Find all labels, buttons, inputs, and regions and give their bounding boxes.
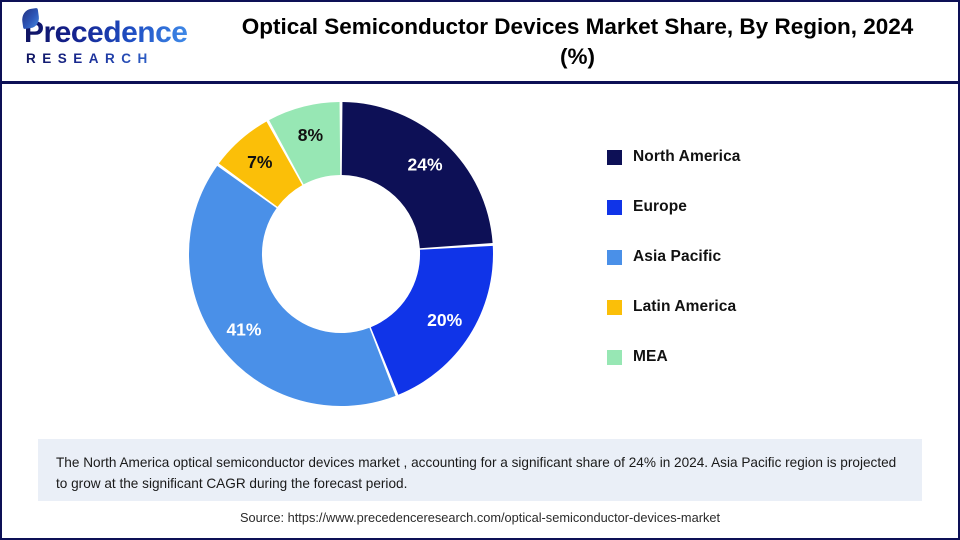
donut-slice-group: [189, 102, 493, 406]
legend-label: North America: [633, 148, 741, 166]
legend-item-north-america[interactable]: North America: [607, 132, 907, 182]
legend-item-europe[interactable]: Europe: [607, 182, 907, 232]
chart-legend: North America Europe Asia Pacific Latin …: [607, 132, 907, 382]
legend-item-mea[interactable]: MEA: [607, 332, 907, 382]
donut-slice[interactable]: [189, 166, 396, 406]
legend-label: Asia Pacific: [633, 248, 721, 266]
donut-slice-label: 8%: [298, 125, 324, 145]
donut-slice-label: 41%: [226, 319, 261, 339]
logo-wordmark: Precedence: [16, 18, 217, 48]
chart-area: 24%20%41%7%8% North America Europe Asia …: [2, 84, 958, 429]
donut-slice-label: 7%: [247, 152, 273, 172]
legend-item-asia-pacific[interactable]: Asia Pacific: [607, 232, 907, 282]
donut-chart-svg: 24%20%41%7%8%: [180, 98, 502, 410]
brand-logo: Precedence RESEARCH: [2, 18, 217, 66]
legend-label: MEA: [633, 348, 668, 366]
source-line: Source: https://www.precedenceresearch.c…: [2, 510, 958, 525]
legend-label: Latin America: [633, 298, 736, 316]
logo-subtitle: RESEARCH: [16, 52, 217, 66]
legend-swatch-icon: [607, 250, 622, 265]
legend-swatch-icon: [607, 150, 622, 165]
logo-wordmark-text: Precedence: [24, 16, 187, 49]
legend-swatch-icon: [607, 350, 622, 365]
legend-label: Europe: [633, 198, 687, 216]
infographic-frame: Precedence RESEARCH Optical Semiconducto…: [0, 0, 960, 540]
donut-chart: 24%20%41%7%8%: [180, 98, 502, 410]
legend-swatch-icon: [607, 200, 622, 215]
header: Precedence RESEARCH Optical Semiconducto…: [2, 2, 958, 84]
donut-slice-label: 20%: [427, 310, 462, 330]
legend-item-latin-america[interactable]: Latin America: [607, 282, 907, 332]
legend-swatch-icon: [607, 300, 622, 315]
page-title: Optical Semiconductor Devices Market Sha…: [217, 12, 958, 71]
caption-box: The North America optical semiconductor …: [38, 439, 922, 501]
donut-slice[interactable]: [342, 102, 493, 248]
caption-text: The North America optical semiconductor …: [56, 452, 904, 494]
donut-slice-label: 24%: [408, 154, 443, 174]
